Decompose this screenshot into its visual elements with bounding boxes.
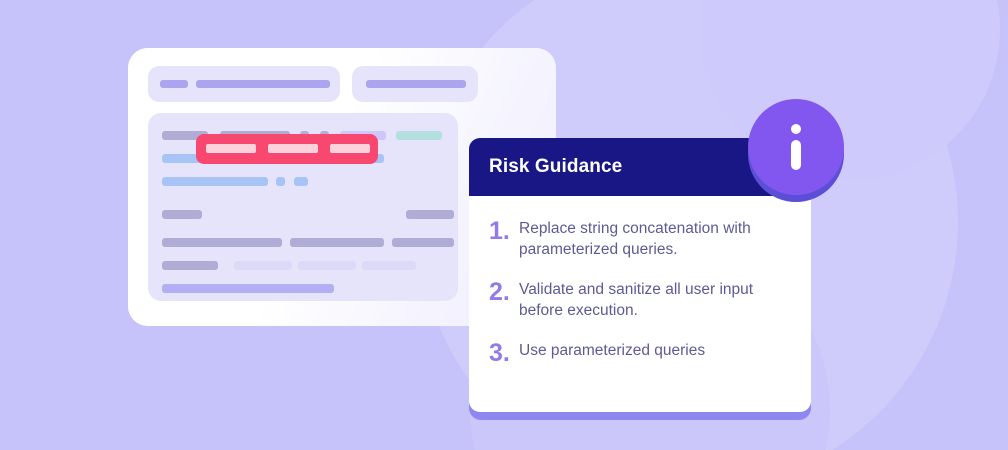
header-field-right	[352, 66, 478, 102]
highlight-token	[268, 144, 318, 153]
code-token	[290, 238, 384, 247]
code-token	[362, 261, 416, 270]
code-token	[396, 131, 442, 140]
field-bar	[366, 80, 466, 88]
code-line	[148, 238, 458, 247]
code-token	[234, 261, 292, 270]
code-token	[294, 177, 308, 186]
list-item-number: 1.	[489, 218, 519, 244]
list-item-label: Validate and sanitize all user input bef…	[519, 279, 769, 322]
code-line	[148, 177, 458, 186]
highlight-token	[330, 144, 370, 153]
page-title: Risk Guidance	[489, 156, 622, 178]
info-icon-dot	[791, 124, 801, 134]
list-item: 3.Use parameterized queries	[489, 340, 789, 366]
code-token	[276, 177, 285, 186]
code-line	[148, 284, 458, 293]
code-token	[162, 177, 268, 186]
illustration-scene: Risk Guidance 1.Replace string concatena…	[0, 0, 1008, 450]
header-field-left	[148, 66, 340, 102]
code-token	[162, 238, 282, 247]
code-token	[392, 238, 454, 247]
list-item-label: Replace string concatenation with parame…	[519, 218, 769, 261]
code-token	[406, 210, 454, 219]
code-token	[162, 261, 218, 270]
list-item-number: 3.	[489, 340, 519, 366]
info-icon-stem	[791, 140, 801, 170]
code-line	[148, 261, 458, 270]
risk-guidance-list: 1.Replace string concatenation with para…	[469, 196, 811, 366]
code-token	[162, 284, 334, 293]
list-item: 1.Replace string concatenation with para…	[489, 218, 789, 261]
list-item-number: 2.	[489, 279, 519, 305]
info-icon[interactable]	[748, 99, 844, 195]
list-item: 2.Validate and sanitize all user input b…	[489, 279, 789, 322]
sql-injection-highlight	[196, 134, 378, 164]
field-bar	[196, 80, 330, 88]
highlight-token	[206, 144, 256, 153]
code-token	[162, 210, 202, 219]
code-token	[298, 261, 356, 270]
list-item-label: Use parameterized queries	[519, 340, 705, 361]
field-bar	[160, 80, 188, 88]
code-line	[148, 210, 458, 219]
info-glyph	[791, 124, 801, 170]
